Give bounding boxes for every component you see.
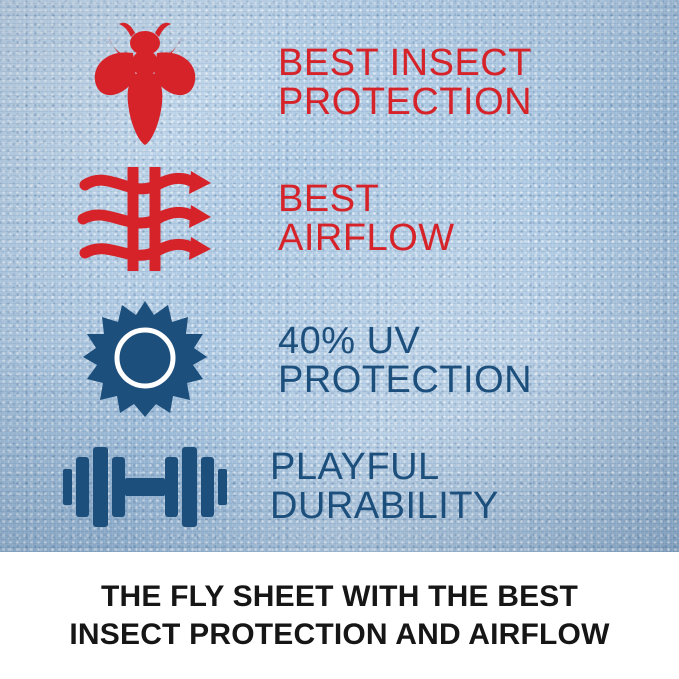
feature-row-durability: PLAYFUL DURABILITY <box>60 432 499 542</box>
airflow-arrows-icon <box>60 163 230 275</box>
sun-uv-icon <box>60 299 230 423</box>
product-feature-poster: BEST INSECT PROTECTION <box>0 0 679 679</box>
caption-band: THE FLY SHEET WITH THE BEST INSECT PROTE… <box>0 552 679 679</box>
feature-list: BEST INSECT PROTECTION <box>0 0 679 552</box>
feature-row-airflow: BEST AIRFLOW <box>60 158 455 280</box>
feature-row-insect-protection: BEST INSECT PROTECTION <box>60 18 532 148</box>
caption-line-2: INSECT PROTECTION AND AIRFLOW <box>69 616 609 654</box>
fly-insect-icon <box>60 19 230 147</box>
feature-row-uv-protection: 40% UV PROTECTION <box>60 296 532 426</box>
feature-label-airflow: BEST AIRFLOW <box>278 180 455 258</box>
dumbbell-durability-icon <box>60 443 230 531</box>
feature-label-durability: PLAYFUL DURABILITY <box>270 448 499 526</box>
caption-line-1: THE FLY SHEET WITH THE BEST <box>101 578 578 616</box>
feature-label-uv-protection: 40% UV PROTECTION <box>278 322 532 400</box>
feature-label-insect-protection: BEST INSECT PROTECTION <box>278 44 532 122</box>
